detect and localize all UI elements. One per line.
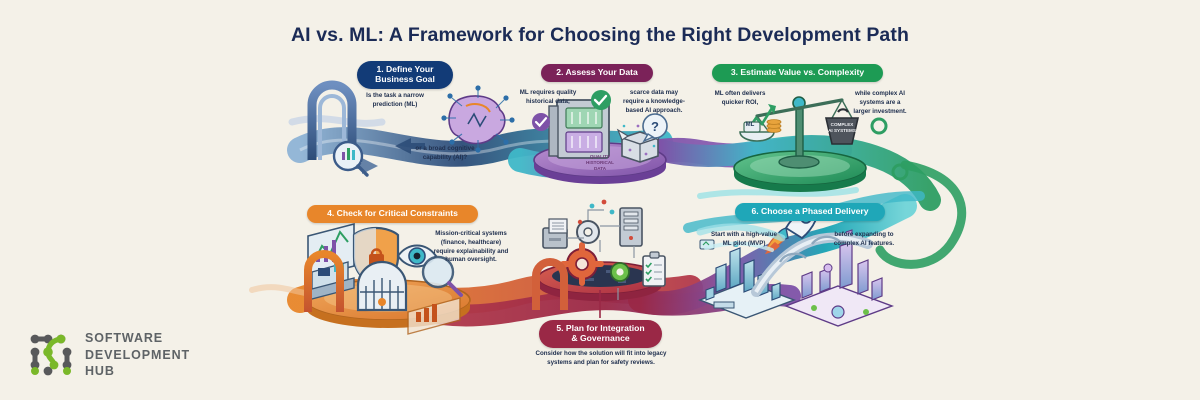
step-3-caption-right: while complex AI systems are a larger in… [843, 90, 917, 116]
connection-lines [567, 210, 634, 300]
step4-arch [308, 254, 340, 312]
workstation-icon [308, 262, 354, 300]
step-2-caption-left: ML requires quality historical data; [508, 89, 588, 107]
server-rack-icon [549, 100, 609, 158]
step-2-caption-right: scarce data may require a knowledge- bas… [613, 89, 695, 115]
step5-arch [536, 262, 564, 310]
step-6-caption-left: Start with a high-value ML pilot (MVP) [702, 231, 786, 249]
brain-network-icon [441, 85, 514, 152]
step-badge-4[interactable]: 4. Check for Critical Constraints [307, 205, 478, 223]
bar-chart-panel-icon [408, 298, 460, 334]
step4-platform [306, 280, 470, 328]
clipboard-checklist-icon [643, 252, 665, 286]
step-3-art-label-complex: COMPLEX AI SYSTEMS [818, 122, 866, 134]
shield-lock-icon [354, 228, 398, 286]
magnifier-chart-icon [334, 142, 367, 175]
step-1-caption-right: or a broad cognitive capability (AI)? [404, 145, 486, 163]
file-cabinet-icon [543, 219, 567, 248]
page-title: AI vs. ML: A Framework for Choosing the … [0, 24, 1200, 47]
infographic-canvas: ? [0, 0, 1200, 400]
step5-platform [538, 262, 662, 301]
question-bubble-icon: ? [643, 114, 667, 141]
dashboard-chart-icon [308, 224, 354, 278]
step-6-caption-right: before expanding to complex AI features. [822, 231, 906, 249]
server-tower-icon [620, 208, 642, 246]
brand-logo: SOFTWARE DEVELOPMENT HUB [28, 330, 190, 380]
step-1-caption-left: Is the task a narrow prediction (ML) [352, 92, 438, 110]
gate-icon [358, 262, 406, 310]
step3-platform [734, 151, 866, 192]
gears-governance-icon [563, 221, 629, 283]
step-badge-3[interactable]: 3. Estimate Value vs. Complexity [712, 64, 883, 82]
step-badge-2[interactable]: 2. Assess Your Data [541, 64, 653, 82]
step-badge-6[interactable]: 6. Choose a Phased Delivery [735, 203, 885, 221]
step-3-caption-left: ML often delivers quicker ROI, [702, 90, 778, 108]
step-3-art-label-ml: ML [738, 122, 762, 130]
check-badge-left [532, 113, 550, 131]
logo-mark-icon [28, 332, 74, 378]
step1-arch [312, 85, 352, 160]
step-4-caption: Mission-critical systems (finance, healt… [418, 230, 524, 265]
step-badge-1[interactable]: 1. Define Your Business Goal [357, 61, 453, 89]
step-2-art-label: QUALITY HISTORICAL DATA [565, 154, 635, 172]
step-badge-5[interactable]: 5. Plan for Integration & Governance [539, 320, 662, 348]
gear-icon-right [872, 119, 907, 179]
brand-name: SOFTWARE DEVELOPMENT HUB [85, 330, 190, 380]
svg-text:?: ? [651, 119, 659, 134]
city-left-icon [700, 240, 794, 318]
step-5-caption: Consider how the solution will fit into … [516, 350, 686, 368]
check-badge-right [591, 90, 611, 110]
